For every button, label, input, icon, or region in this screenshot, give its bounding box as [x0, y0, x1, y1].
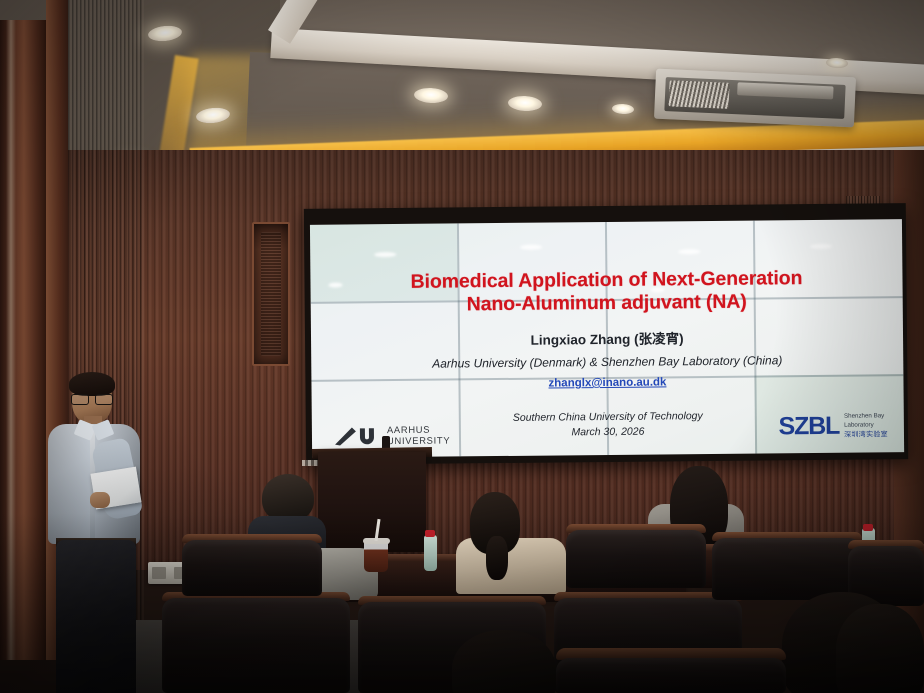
air-conditioner-unit	[654, 69, 856, 128]
audience-ponytail	[486, 536, 508, 580]
video-wall[interactable]: Biomedical Application of Next-Generatio…	[304, 203, 908, 465]
audience-member-foreground	[836, 604, 924, 693]
bottle-cap	[863, 524, 873, 531]
audience-seat[interactable]	[182, 540, 322, 596]
szbl-logo: SZBL Shenzhen Bay Laboratory 深圳湾实验室	[778, 411, 888, 441]
audience-seat[interactable]	[566, 530, 706, 588]
water-bottle	[424, 535, 437, 571]
presenter-hair	[69, 372, 115, 396]
wall-speaker-left	[252, 222, 290, 366]
slide-title: Biomedical Application of Next-Generatio…	[411, 267, 803, 317]
slide-title-line2: Nano-Aluminum adjuvant (NA)	[411, 290, 803, 317]
drink-cup	[364, 540, 388, 572]
aarhus-au-mark-icon	[334, 425, 380, 447]
presenter-hand	[90, 492, 110, 508]
slide-author: Lingxiao Zhang (张凌宵)	[530, 327, 683, 348]
audience-head	[452, 630, 556, 693]
video-wall-display[interactable]: Biomedical Application of Next-Generatio…	[310, 219, 904, 458]
audience-member	[456, 492, 566, 592]
glasses-icon	[71, 394, 113, 404]
slide-email-link[interactable]: zhanglx@inano.au.dk	[548, 376, 666, 389]
audience-seat[interactable]	[712, 538, 862, 600]
bottle-cap	[425, 530, 435, 537]
audience-seat[interactable]	[162, 598, 350, 693]
slide-logo-row: AARHUS UNIVERSITY SZBL Shenzhen Bay Labo…	[312, 402, 904, 452]
audience-head	[836, 604, 924, 693]
lectern	[318, 452, 426, 552]
lecture-hall-scene: Biomedical Application of Next-Generatio…	[0, 0, 924, 693]
szbl-logo-text: Shenzhen Bay Laboratory 深圳湾实验室	[844, 413, 888, 440]
presentation-slide: Biomedical Application of Next-Generatio…	[310, 219, 904, 458]
audience-head	[262, 474, 314, 522]
szbl-wordmark: SZBL	[778, 412, 839, 442]
glasses-lens-right	[95, 394, 113, 405]
aarhus-logo-text: AARHUS UNIVERSITY	[387, 425, 450, 447]
presenter	[38, 372, 148, 693]
audience-member-foreground	[452, 630, 556, 693]
glasses-lens-left	[71, 394, 89, 405]
aarhus-logo-line2: UNIVERSITY	[387, 435, 450, 446]
pillar-highlight	[6, 20, 16, 660]
speaker-cone	[261, 232, 281, 356]
slide-affiliation: Aarhus University (Denmark) & Shenzhen B…	[432, 353, 782, 370]
szbl-sub-line1: Shenzhen Bay	[844, 413, 888, 421]
ac-louver-icon	[669, 80, 730, 109]
szbl-chinese-name: 深圳湾实验室	[844, 429, 888, 439]
outlet-socket-icon	[152, 567, 166, 579]
audience-seat[interactable]	[556, 658, 786, 693]
presenter-trousers	[56, 540, 136, 693]
aarhus-university-logo: AARHUS UNIVERSITY	[334, 425, 450, 448]
